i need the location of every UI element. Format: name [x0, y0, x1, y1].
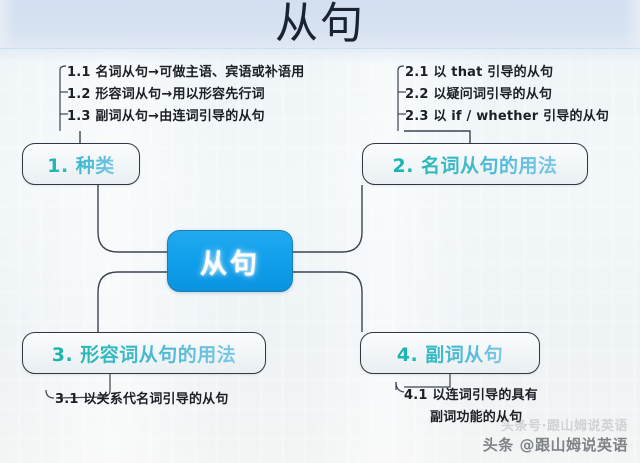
- subbranch-item: 3.1 以关系代名词引导的从句: [55, 389, 229, 411]
- subbranch-item: 1.2 形容词从句→用以形容先行词: [67, 84, 304, 106]
- connector-branch2-trunk: [398, 66, 404, 131]
- subbranch-item-line1: 4.1 以连词引导的具有: [404, 388, 538, 403]
- connector-center-to-node3: [98, 272, 167, 332]
- watermark: 头条号·跟山姆说英语 头条 @跟山姆说英语: [483, 434, 628, 455]
- node-center-root[interactable]: 从句: [167, 230, 293, 292]
- mindmap-canvas: 从句 1.1 名词从句→可做主语、宾语或补语用 1.2 形容词从句→用以形容先行…: [0, 0, 640, 463]
- subbranch-item: 2.2 以疑问词引导的从句: [405, 84, 609, 106]
- subbranch-item: 1.3 副词从句→由连词引导的从句: [67, 106, 304, 128]
- watermark-ghost: 头条号·跟山姆说英语: [501, 415, 628, 434]
- connector-branch4-curve: [396, 382, 404, 392]
- page-title: 从句: [0, 0, 640, 50]
- watermark-text: 头条 @跟山姆说英语: [483, 436, 628, 454]
- connector-center-to-node1: [98, 185, 167, 252]
- connector-center-to-node2: [293, 185, 362, 252]
- node-center-label: 从句: [200, 242, 260, 281]
- node-adjective-clause-usage[interactable]: 3. 形容词从句的用法: [22, 332, 266, 374]
- node-adverb-clause[interactable]: 4. 副词从句: [360, 332, 540, 374]
- node-label: 3. 形容词从句的用法: [52, 340, 237, 367]
- connector-center-to-node4: [293, 272, 362, 332]
- node-label: 2. 名词从句的用法: [392, 151, 557, 178]
- subbranch-group-1: 1.1 名词从句→可做主语、宾语或补语用 1.2 形容词从句→用以形容先行词 1…: [67, 62, 304, 128]
- connector-node2-stem: [404, 131, 470, 143]
- node-label: 1. 种类: [47, 151, 115, 178]
- subbranch-group-3: 3.1 以关系代名词引导的从句: [55, 389, 229, 411]
- node-noun-clause-usage[interactable]: 2. 名词从句的用法: [362, 143, 588, 185]
- connector-branch1-trunk: [60, 66, 66, 131]
- subbranch-item: 1.1 名词从句→可做主语、宾语或补语用: [67, 62, 304, 84]
- connector-branch3-curve: [46, 390, 54, 398]
- node-label: 4. 副词从句: [397, 340, 504, 367]
- node-category[interactable]: 1. 种类: [22, 143, 140, 185]
- subbranch-item: 2.1 以 that 引导的从句: [405, 62, 609, 84]
- subbranch-item: 2.3 以 if / whether 引导的从句: [405, 106, 609, 128]
- subbranch-group-2: 2.1 以 that 引导的从句 2.2 以疑问词引导的从句 2.3 以 if …: [405, 62, 609, 128]
